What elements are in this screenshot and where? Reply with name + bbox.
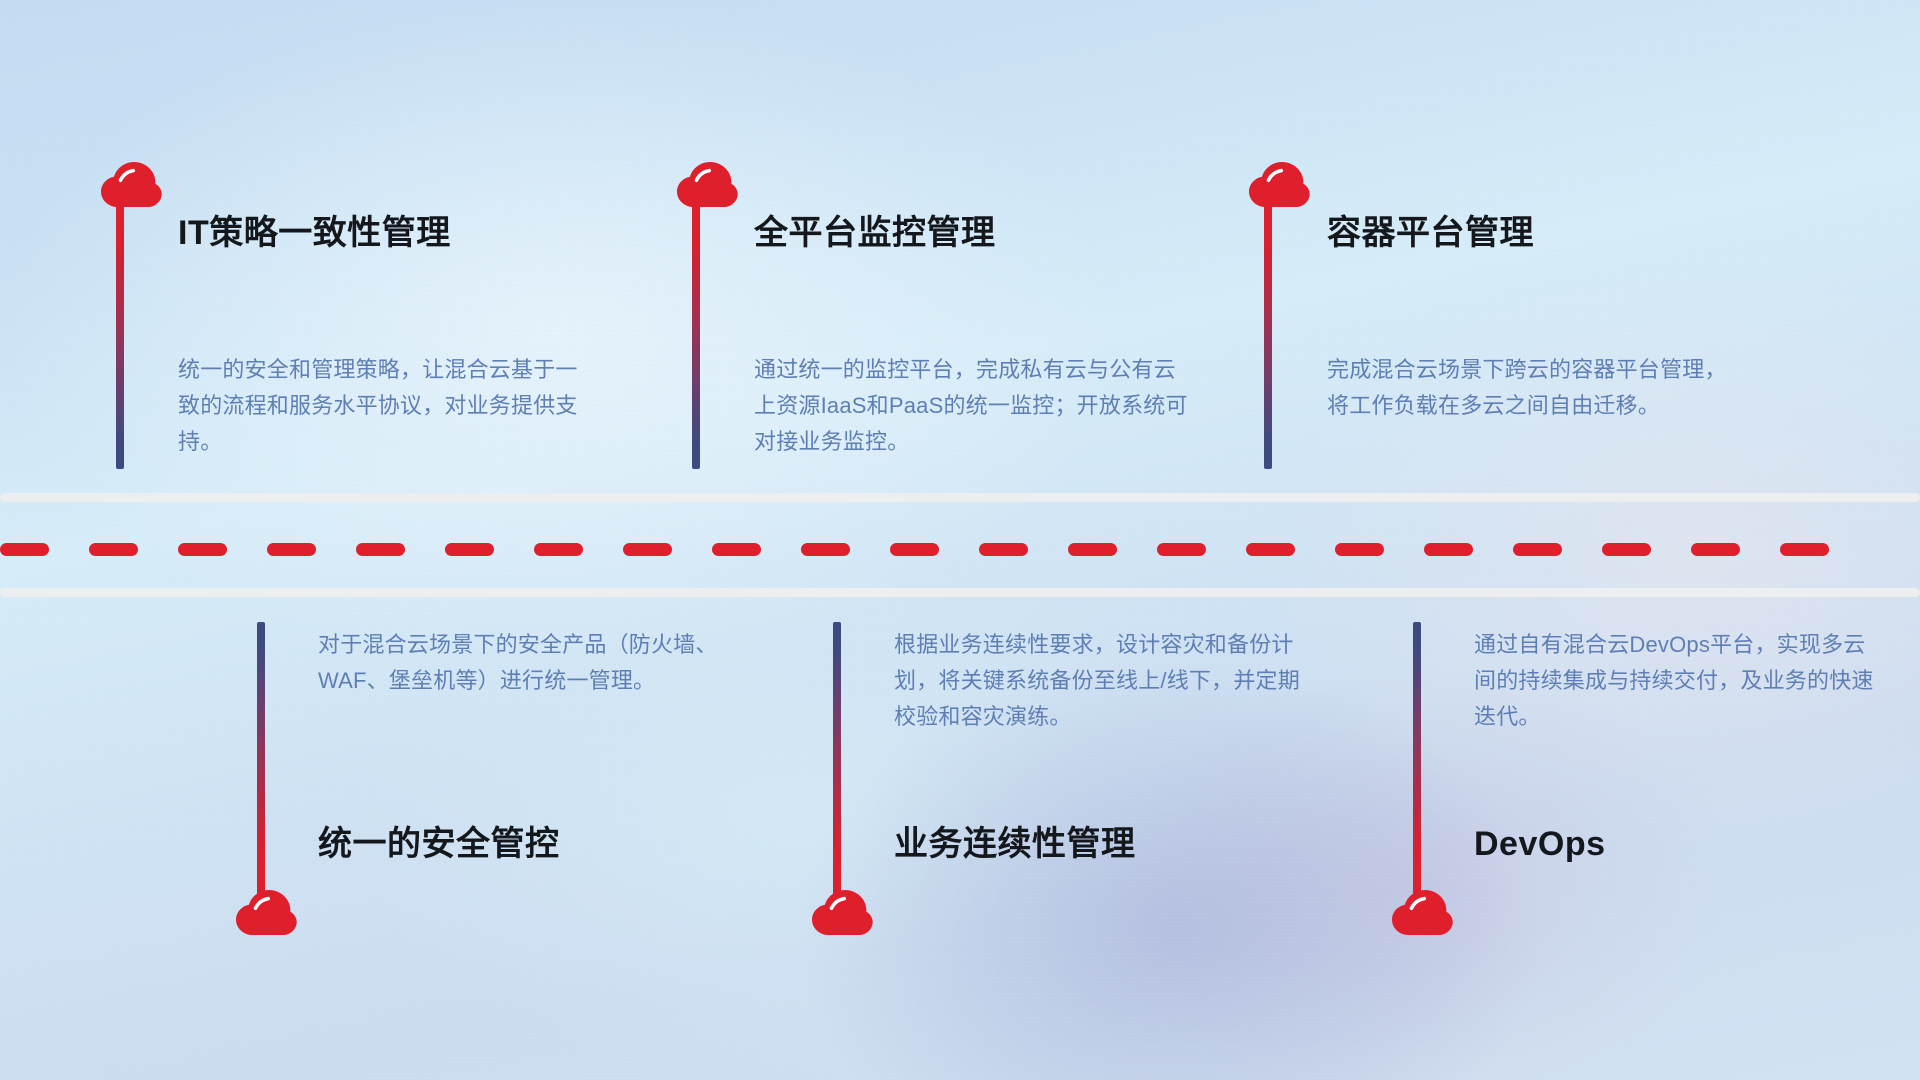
cloud-icon xyxy=(1388,888,1454,936)
divider-rule-bottom xyxy=(0,588,1920,597)
dash-segment xyxy=(1424,543,1473,556)
column-title: DevOps xyxy=(1474,824,1606,865)
dash-segment xyxy=(1068,543,1117,556)
dash-segment xyxy=(178,543,227,556)
connector-stem xyxy=(257,622,265,897)
column-description: 通过自有混合云DevOps平台，实现多云间的持续集成与持续交付，及业务的快速迭代… xyxy=(1474,627,1878,735)
dash-segment xyxy=(1335,543,1384,556)
connector-stem xyxy=(1264,197,1272,469)
column-title: 统一的安全管控 xyxy=(318,824,560,865)
infographic-canvas: IT策略一致性管理 统一的安全和管理策略，让混合云基于一致的流程和服务水平协议，… xyxy=(0,0,1920,1080)
dash-segment xyxy=(0,543,49,556)
divider-rule-top xyxy=(0,493,1920,502)
column-description: 统一的安全和管理策略，让混合云基于一致的流程和服务水平协议，对业务提供支持。 xyxy=(178,352,590,460)
dash-segment xyxy=(623,543,672,556)
column-description: 根据业务连续性要求，设计容灾和备份计划，将关键系统备份至线上/线下，并定期校验和… xyxy=(894,627,1314,735)
column-title: 全平台监控管理 xyxy=(754,213,996,254)
dash-segment xyxy=(1691,543,1740,556)
column-description: 通过统一的监控平台，完成私有云与公有云上资源IaaS和PaaS的统一监控；开放系… xyxy=(754,352,1194,460)
column-title: 业务连续性管理 xyxy=(894,824,1136,865)
dash-segment xyxy=(356,543,405,556)
column-description: 完成混合云场景下跨云的容器平台管理，将工作负载在多云之间自由迁移。 xyxy=(1327,352,1747,424)
cloud-icon xyxy=(808,888,874,936)
dashed-separator xyxy=(0,543,1920,556)
dash-segment xyxy=(1246,543,1295,556)
dash-segment xyxy=(1602,543,1651,556)
cloud-icon xyxy=(232,888,298,936)
dash-segment xyxy=(267,543,316,556)
dash-segment xyxy=(801,543,850,556)
dash-segment xyxy=(445,543,494,556)
connector-stem xyxy=(692,197,700,469)
cloud-icon xyxy=(673,160,739,208)
dash-segment xyxy=(712,543,761,556)
dash-segment xyxy=(1780,543,1829,556)
dash-segment xyxy=(1513,543,1562,556)
column-description: 对于混合云场景下的安全产品（防火墙、WAF、堡垒机等）进行统一管理。 xyxy=(318,627,738,699)
dash-segment xyxy=(89,543,138,556)
connector-stem xyxy=(1413,622,1421,897)
cloud-icon xyxy=(97,160,163,208)
cloud-icon xyxy=(1245,160,1311,208)
dash-segment xyxy=(890,543,939,556)
dash-segment xyxy=(1157,543,1206,556)
column-title: IT策略一致性管理 xyxy=(178,213,451,254)
connector-stem xyxy=(833,622,841,897)
dash-segment xyxy=(979,543,1028,556)
dash-segment xyxy=(534,543,583,556)
column-title: 容器平台管理 xyxy=(1327,213,1534,254)
connector-stem xyxy=(116,197,124,469)
